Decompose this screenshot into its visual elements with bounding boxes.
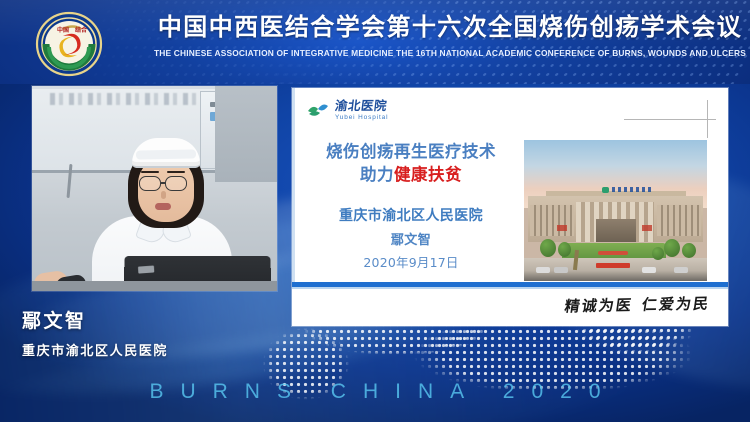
slide-title-line1: 烧伤创疡再生医疗技术 bbox=[326, 142, 496, 161]
speaker-organization: 重庆市渝北区人民医院 bbox=[22, 340, 272, 359]
conference-header-banner: 中国 结合 中国中西医结合学会第十六次全国烧伤创疡学术会议 THE CHINES… bbox=[0, 0, 750, 84]
hospital-name-cn: 渝北医院 bbox=[334, 100, 389, 113]
photo-red-banner bbox=[557, 225, 567, 231]
crosshair-decoration-icon bbox=[624, 100, 716, 138]
slide-presenter-name: 鄢文智 bbox=[306, 229, 516, 248]
slide-left-edge bbox=[292, 88, 295, 282]
hospital-name-en: Yubei Hospital bbox=[335, 115, 388, 121]
photo-car bbox=[536, 267, 550, 273]
calligraphy-right: 仁爱为民 bbox=[641, 294, 712, 313]
calligraphy-left: 精诚为医 bbox=[563, 296, 634, 315]
slide-title: 烧伤创疡再生医疗技术 助力健康扶贫 bbox=[306, 140, 516, 186]
photo-ground-banner bbox=[596, 263, 630, 268]
photo-car bbox=[642, 267, 656, 273]
whiteboard-handwriting bbox=[50, 93, 200, 105]
conference-emblem-icon: 中国 结合 bbox=[33, 11, 105, 77]
photo-tree bbox=[540, 239, 556, 257]
slide-title-highlight: 健康扶贫 bbox=[394, 165, 462, 184]
video-wall-right bbox=[215, 86, 277, 182]
desk-surface bbox=[32, 281, 277, 291]
photo-flowerbed bbox=[598, 251, 628, 255]
conference-title-en: THE CHINESE ASSOCIATION OF INTEGRATIVE M… bbox=[150, 48, 750, 58]
presenter-eyebrow bbox=[167, 171, 185, 173]
photo-windows bbox=[530, 205, 574, 236]
slide-calligraphy-motto: 精诚为医仁爱为民 bbox=[563, 292, 711, 316]
svg-text:中国: 中国 bbox=[57, 26, 69, 34]
eyeglasses-lens bbox=[165, 176, 187, 191]
photo-tree bbox=[558, 242, 571, 257]
eyeglasses-bridge bbox=[161, 182, 166, 184]
photo-car bbox=[674, 267, 688, 273]
event-wordmark: BURNS CHINA 2020 bbox=[0, 380, 750, 404]
slide-accent-bar-light bbox=[292, 287, 728, 289]
header-text-block: 中国中西医结合学会第十六次全国烧伤创疡学术会议 THE CHINESE ASSO… bbox=[150, 12, 750, 58]
photo-tree bbox=[682, 243, 696, 258]
photo-windows bbox=[657, 205, 701, 236]
photo-entrance bbox=[596, 219, 636, 242]
conference-title-cn: 中国中西医结合学会第十六次全国烧伤创疡学术会议 bbox=[150, 12, 750, 42]
laptop-logo-icon bbox=[138, 266, 154, 274]
photo-car bbox=[554, 267, 568, 273]
slide-organization: 重庆市渝北区人民医院 bbox=[306, 205, 516, 225]
eyeglasses-lens bbox=[139, 176, 161, 191]
photo-red-banner bbox=[642, 225, 652, 231]
speaker-name: 鄢文智 bbox=[22, 306, 272, 333]
hospital-building-photo bbox=[524, 140, 707, 281]
presenter-video-feed[interactable] bbox=[32, 86, 277, 291]
yubei-hospital-mark-icon bbox=[306, 100, 330, 120]
lower-third-overlay: 鄢文智 重庆市渝北区人民医院 bbox=[22, 306, 272, 359]
presenter-eyebrow bbox=[141, 171, 159, 173]
slide-title-line2-prefix: 助力 bbox=[360, 165, 394, 184]
slide-date: 2020年9月17日 bbox=[306, 252, 516, 271]
presenter-nose bbox=[161, 191, 166, 199]
slide-title-line2: 助力健康扶贫 bbox=[306, 163, 516, 186]
hospital-logo-text: 渝北医院 Yubei Hospital bbox=[335, 100, 388, 121]
svg-text:结合: 结合 bbox=[75, 26, 88, 34]
presentation-slide[interactable]: 渝北医院 Yubei Hospital 烧伤创疡再生医疗技术 助力健康扶贫 重庆… bbox=[292, 88, 728, 326]
presenter-mouth bbox=[155, 203, 171, 210]
photo-hospital-sign-icon bbox=[602, 187, 609, 193]
broadcast-stage: BURNS CHINA 2020 中国 结合 中国中西医结合学会第十六次全国烧伤… bbox=[0, 0, 750, 422]
hospital-logo: 渝北医院 Yubei Hospital bbox=[306, 100, 388, 121]
photo-hospital-sign-text bbox=[612, 187, 654, 192]
photo-tree bbox=[664, 239, 680, 257]
nurse-cap-fold bbox=[136, 149, 196, 159]
